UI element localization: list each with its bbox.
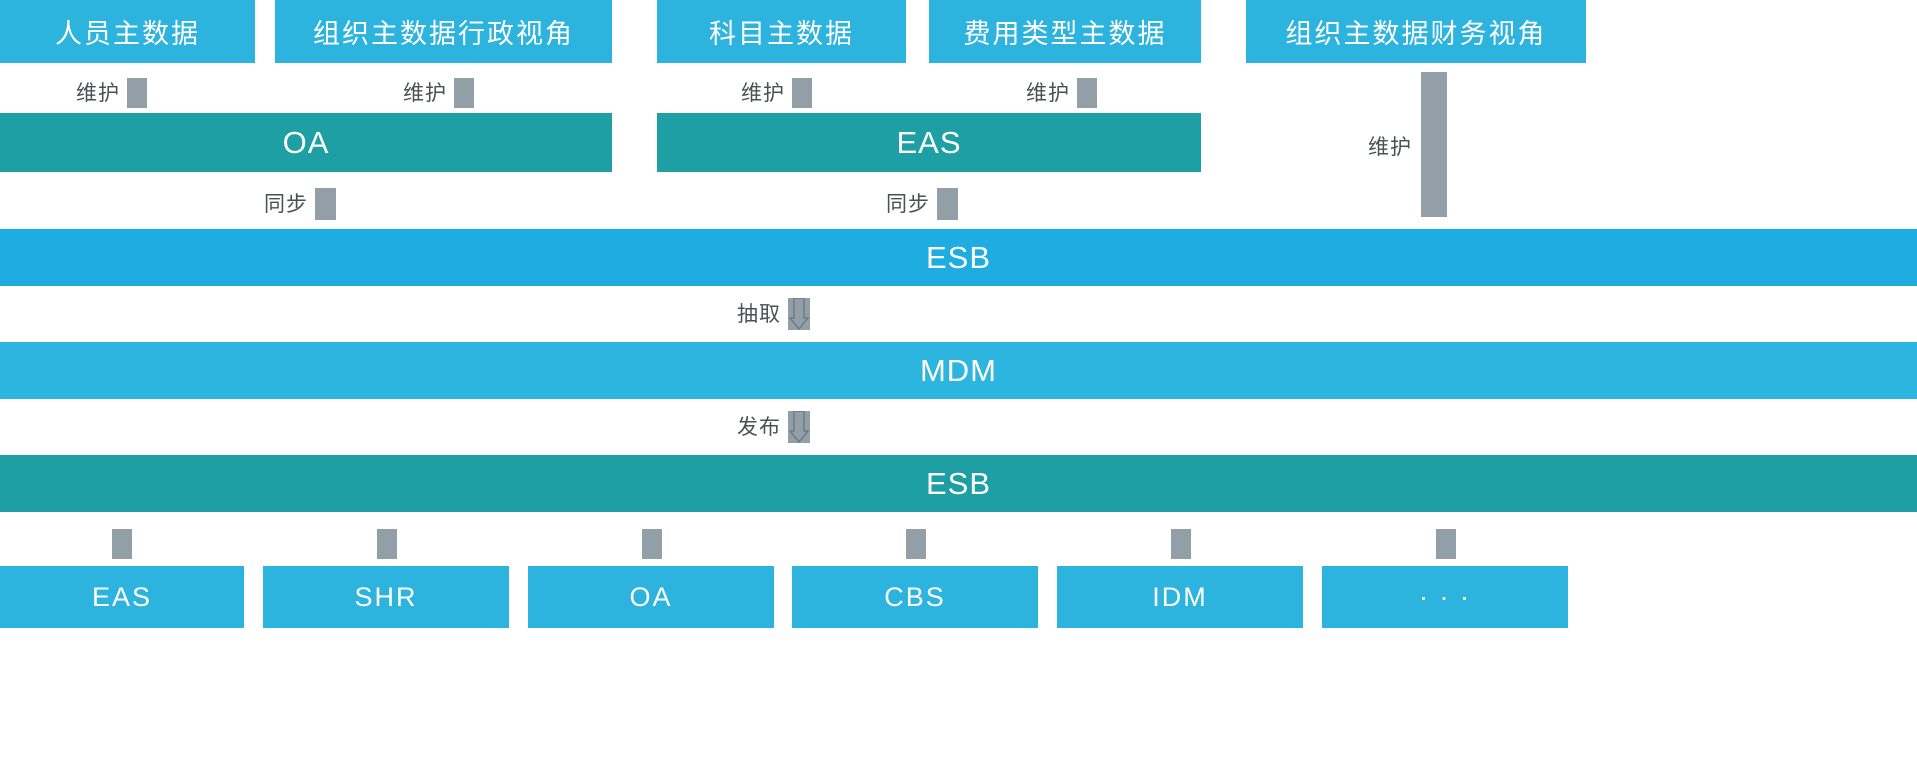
source-box-account[interactable]: 科目主数据 bbox=[657, 0, 906, 63]
consumer-box-label: EAS bbox=[92, 582, 152, 613]
source-box-label: 人员主数据 bbox=[55, 12, 200, 51]
connector-arrow-icon bbox=[1171, 529, 1191, 559]
consumer-box-more[interactable]: · · · bbox=[1322, 566, 1568, 628]
sync-connector-oa: 同步 bbox=[264, 188, 336, 220]
connector-arrow-icon bbox=[112, 529, 132, 559]
source-box-label: 组织主数据财务视角 bbox=[1286, 12, 1547, 51]
source-box-label: 科目主数据 bbox=[709, 12, 854, 51]
connector-arrow-icon bbox=[454, 78, 474, 108]
connector-arrow-icon bbox=[906, 529, 926, 559]
esb-label: ESB bbox=[926, 466, 991, 502]
connector-arrow-icon-vertical bbox=[1421, 72, 1447, 217]
double-down-arrow-icon bbox=[788, 411, 810, 443]
consumer-box-shr[interactable]: SHR bbox=[263, 566, 509, 628]
mdm-band[interactable]: MDM bbox=[0, 342, 1917, 399]
extract-connector: 抽取 bbox=[737, 298, 810, 330]
esb-label: ESB bbox=[926, 240, 991, 276]
maintain-connector-4: 维护 bbox=[1026, 78, 1097, 108]
consumer-box-label: OA bbox=[629, 582, 672, 613]
system-band-oa[interactable]: OA bbox=[0, 113, 612, 172]
consumer-box-eas[interactable]: EAS bbox=[0, 566, 244, 628]
mdm-label: MDM bbox=[920, 353, 997, 389]
sync-label: 同步 bbox=[264, 194, 308, 215]
connector-arrow-icon bbox=[127, 78, 147, 108]
consumer-box-label: IDM bbox=[1152, 582, 1208, 613]
source-box-org-admin[interactable]: 组织主数据行政视角 bbox=[275, 0, 612, 63]
sync-connector-eas: 同步 bbox=[886, 188, 958, 220]
sync-label: 同步 bbox=[886, 194, 930, 215]
double-down-arrow-icon bbox=[788, 298, 810, 330]
connector-arrow-icon bbox=[1436, 529, 1456, 559]
publish-connector: 发布 bbox=[737, 411, 810, 443]
publish-label: 发布 bbox=[737, 417, 781, 438]
architecture-diagram: 人员主数据 组织主数据行政视角 科目主数据 费用类型主数据 组织主数据财务视角 … bbox=[0, 0, 1917, 768]
connector-arrow-icon bbox=[937, 188, 958, 220]
connector-arrow-icon bbox=[792, 78, 812, 108]
esb-band-top[interactable]: ESB bbox=[0, 229, 1917, 286]
maintain-label: 维护 bbox=[403, 83, 447, 104]
system-band-eas[interactable]: EAS bbox=[657, 113, 1201, 172]
maintain-label: 维护 bbox=[741, 83, 785, 104]
consumer-box-label: · · · bbox=[1419, 582, 1471, 613]
system-band-label: EAS bbox=[896, 125, 961, 161]
source-box-personnel[interactable]: 人员主数据 bbox=[0, 0, 255, 63]
connector-arrow-icon bbox=[377, 529, 397, 559]
system-band-label: OA bbox=[283, 125, 330, 161]
extract-label: 抽取 bbox=[737, 304, 781, 325]
consumer-box-label: CBS bbox=[884, 582, 946, 613]
source-box-label: 费用类型主数据 bbox=[964, 12, 1167, 51]
source-box-expense-type[interactable]: 费用类型主数据 bbox=[929, 0, 1201, 63]
consumer-box-oa[interactable]: OA bbox=[528, 566, 774, 628]
connector-arrow-icon bbox=[315, 188, 336, 220]
connector-arrow-icon bbox=[1077, 78, 1097, 108]
maintain-label: 维护 bbox=[76, 83, 120, 104]
maintain-label-finance: 维护 bbox=[1368, 131, 1412, 161]
esb-band-bottom[interactable]: ESB bbox=[0, 455, 1917, 512]
maintain-connector-2: 维护 bbox=[403, 78, 474, 108]
source-box-label: 组织主数据行政视角 bbox=[313, 12, 574, 51]
maintain-connector-1: 维护 bbox=[76, 78, 147, 108]
consumer-box-idm[interactable]: IDM bbox=[1057, 566, 1303, 628]
consumer-box-cbs[interactable]: CBS bbox=[792, 566, 1038, 628]
connector-arrow-icon bbox=[642, 529, 662, 559]
consumer-box-label: SHR bbox=[354, 582, 417, 613]
source-box-org-finance[interactable]: 组织主数据财务视角 bbox=[1246, 0, 1586, 63]
maintain-label: 维护 bbox=[1026, 83, 1070, 104]
maintain-connector-3: 维护 bbox=[741, 78, 812, 108]
